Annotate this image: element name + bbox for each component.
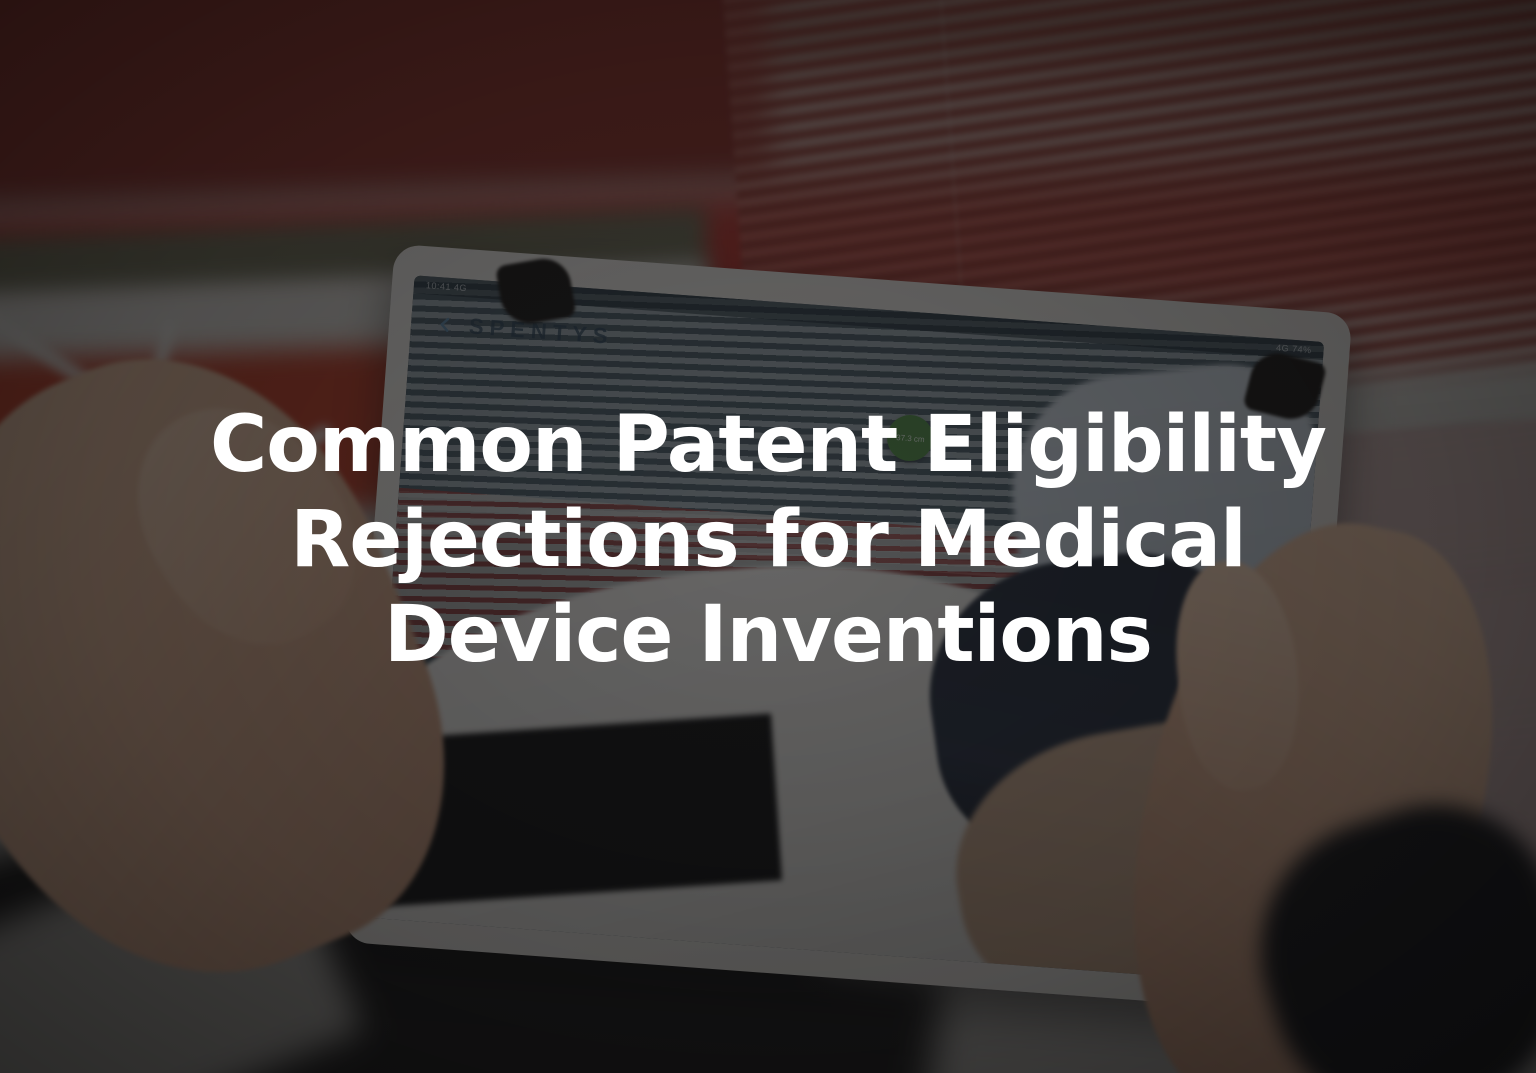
page-title-line-1: Common Patent Eligibility [210,398,1326,493]
article-hero-banner: 10:41 4G 4G 74% SPENTYS 37.3 cm [0,0,1536,1073]
page-title-line-2: Rejections for Medical [290,493,1245,588]
page-title: Common Patent Eligibility Rejections for… [0,398,1536,683]
page-title-line-3: Device Inventions [384,588,1152,683]
